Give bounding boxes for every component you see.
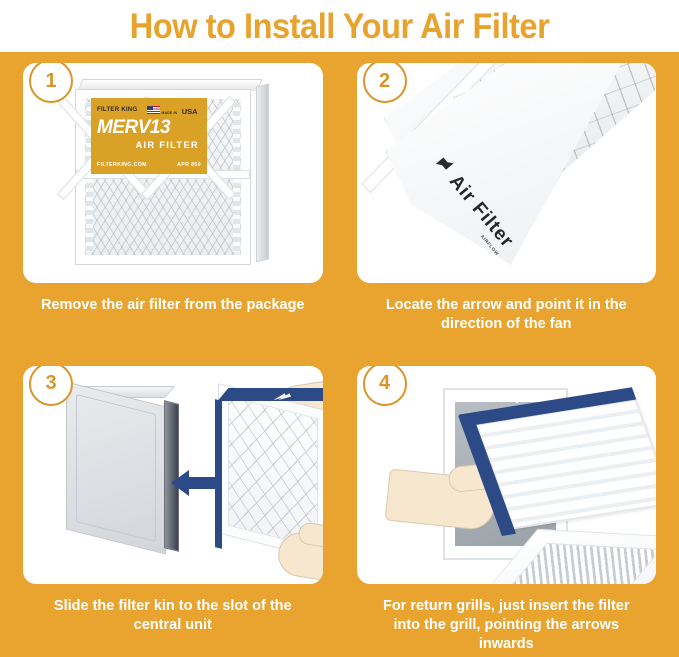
step-4-caption: For return grills, just insert the filte… — [357, 597, 657, 654]
step-3: ▶▶ 3 Slide the filter kin to the slot of… — [0, 355, 340, 657]
grill-mesh — [511, 542, 656, 583]
header: How to Install Your Air Filter — [0, 0, 679, 52]
step-3-badge: 3 — [29, 366, 73, 406]
product-type-text: AIR FILTER — [97, 140, 201, 151]
grill-door: ▶▶ — [475, 398, 657, 529]
step-3-illustration: ▶▶ — [23, 366, 323, 584]
unit-inner-border — [76, 394, 156, 542]
unit-front-face — [66, 381, 166, 554]
apr-rating-text: APR 850 — [177, 162, 201, 168]
filter-king-logo: FILTER KING — [97, 107, 138, 113]
step-1-card: MERV13 AIR FILTER FILTERKING.COM APR 850… — [23, 63, 323, 283]
us-flag-icon — [147, 106, 160, 114]
step-4: ▶▶ 4 For return grills, just insert the … — [340, 355, 679, 657]
made-in-usa-text: MADE IN USA — [162, 101, 198, 119]
brand-row: FILTER KING MADE IN USA — [97, 101, 198, 119]
step-1-caption: Remove the air filter from the package — [23, 296, 323, 315]
step-2-caption: Locate the arrow and point it in the dir… — [357, 296, 657, 334]
filter-left-frame — [215, 399, 222, 549]
step-2: Air Filter AIRFLOW 2 Locate the arrow an… — [340, 52, 679, 355]
step-3-caption: Slide the filter kin to the slot of the … — [23, 597, 323, 635]
step-2-badge: 2 — [363, 63, 407, 103]
infographic-poster: How to Install Your Air Filter — [0, 0, 679, 657]
step-4-card: ▶▶ 4 — [357, 366, 657, 584]
usa-text: USA — [182, 107, 198, 116]
merv13-filter-graphic: MERV13 AIR FILTER FILTERKING.COM APR 850… — [75, 79, 260, 265]
steps-grid: MERV13 AIR FILTER FILTERKING.COM APR 850… — [0, 52, 679, 657]
central-unit-slot — [66, 386, 186, 546]
page-title: How to Install Your Air Filter — [130, 9, 549, 44]
step-2-illustration: Air Filter AIRFLOW — [357, 63, 657, 283]
step-1: MERV13 AIR FILTER FILTERKING.COM APR 850… — [0, 52, 340, 355]
filter-top-frame: ▶▶ — [218, 388, 323, 401]
step-2-card: Air Filter AIRFLOW 2 — [357, 63, 657, 283]
step-3-card: ▶▶ 3 — [23, 366, 323, 584]
filter-side-edge — [256, 83, 269, 262]
filter-direction-arrow-icon: ▶▶ — [270, 391, 298, 402]
made-in-text: MADE IN — [162, 111, 178, 115]
made-in-usa-badge: MADE IN USA — [147, 101, 198, 119]
step-1-illustration: MERV13 AIR FILTER FILTERKING.COM APR 850… — [23, 63, 323, 283]
step-4-badge: 4 — [363, 366, 407, 406]
website-text: FILTERKING.COM — [97, 162, 147, 168]
label-footer: FILTERKING.COM APR 850 — [97, 162, 201, 168]
merv-rating-text: MERV13 — [97, 117, 201, 139]
